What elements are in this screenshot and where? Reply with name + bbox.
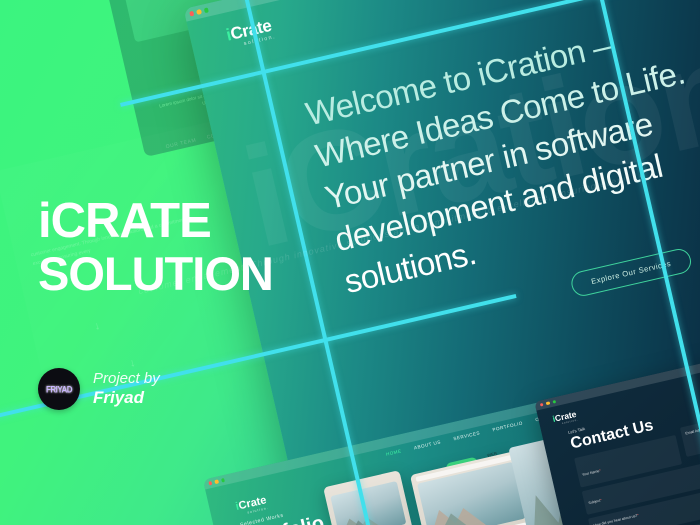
credit-label: Project by <box>93 370 160 387</box>
contact-logo: iCrate solution. <box>552 409 579 427</box>
close-dot-icon <box>209 481 213 485</box>
credit-name: Friyad <box>93 388 160 408</box>
avatar-logo-mark: FRIYAD <box>46 384 72 394</box>
mountain-illustration-icon <box>334 502 384 525</box>
portfolio-logo: iCrate solution. <box>235 494 269 517</box>
explore-services-button[interactable]: Explore Our Services <box>569 247 693 299</box>
pf-nav-item-about-us[interactable]: ABOUT US <box>414 439 442 450</box>
arrow-down-icon: ↓ <box>93 320 101 333</box>
minimize-dot-icon <box>546 401 550 405</box>
pf-nav-item-services[interactable]: SERVICES <box>453 430 481 441</box>
cover-artboard: Play Reel Lorem ipsum dolor sit amet, co… <box>0 0 700 525</box>
mini-nav-item-our-team[interactable]: OUR TEAM <box>165 137 197 150</box>
avatar[interactable]: FRIYAD <box>38 368 80 410</box>
maximize-dot-icon <box>221 478 225 482</box>
title-line-1: iCRATE <box>38 198 273 245</box>
title-line-2: SOLUTION <box>38 251 273 296</box>
credit-block: FRIYAD Project by Friyad <box>38 368 160 410</box>
portfolio-card-image <box>417 462 526 525</box>
pf-nav-item-home[interactable]: HOME <box>385 448 402 456</box>
minimize-dot-icon <box>215 480 219 484</box>
credit-text: Project by Friyad <box>93 370 160 408</box>
page-title: iCRATE SOLUTION <box>38 198 273 296</box>
maximize-dot-icon <box>552 400 556 404</box>
close-dot-icon <box>540 403 544 407</box>
mountain-illustration-icon <box>422 492 488 525</box>
